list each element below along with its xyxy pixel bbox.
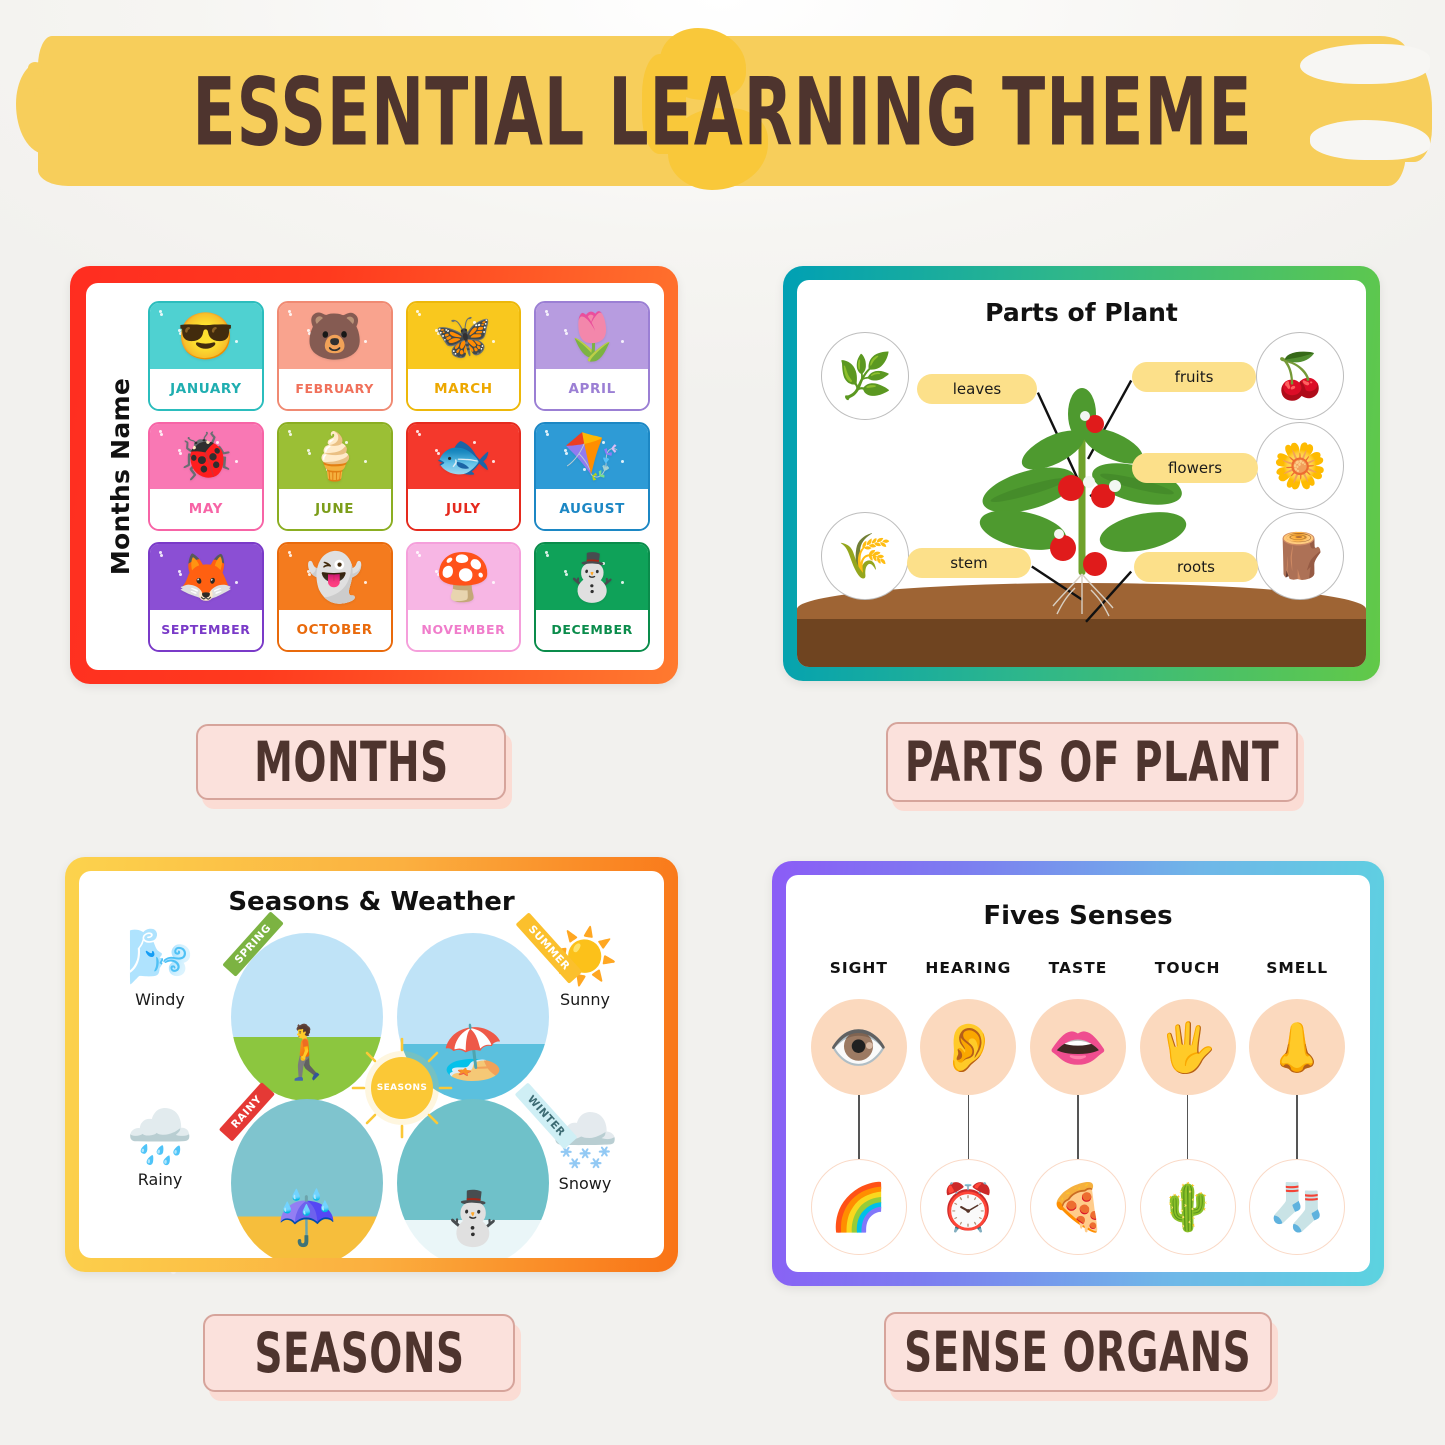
senses-card[interactable]: Fives Senses SIGHT👁️🌈HEARING👂⏰TASTE👄🍕TOU… [772, 861, 1384, 1286]
sense-connector-line [968, 1095, 970, 1159]
caption-box: SEASONS [203, 1314, 515, 1392]
daisy-icon: 🌼 [1256, 422, 1344, 510]
caption-box: PARTS OF PLANT [886, 722, 1298, 802]
pizza-icon: 🍕 [1030, 1159, 1126, 1255]
weather-windy: 🌬️ Windy [95, 929, 225, 1009]
month-card[interactable]: 👻OCTOBER [277, 542, 393, 652]
months-grid: 😎JANUARY🐻FEBRUARY🦋MARCH🌷APRIL🐞MAY🍦JUNE🐟J… [148, 301, 650, 652]
month-card[interactable]: 🍦JUNE [277, 422, 393, 532]
month-card[interactable]: ⛄DECEMBER [534, 542, 650, 652]
ghost-spiders-icon: 👻 [279, 544, 391, 610]
tulips-icon-glyph: 🌷 [563, 313, 620, 359]
weather-windy-label: Windy [95, 990, 225, 1009]
sense-column-sight[interactable]: SIGHT👁️🌈 [804, 959, 914, 1255]
fox-leaves-icon: 🦊 [150, 544, 262, 610]
sun-sunglasses-icon: 😎 [150, 303, 262, 369]
month-card[interactable]: 🐞MAY [148, 422, 264, 532]
kite-icon-glyph: 🪁 [563, 433, 620, 479]
hand-icon: 🖐️ [1140, 999, 1236, 1095]
rainy-figure-icon: ☔ [275, 1188, 340, 1249]
plant-label-flowers[interactable]: flowers [1132, 453, 1258, 483]
month-name: APRIL [536, 369, 648, 409]
page-title: ESSENTIAL LEARNING THEME [29, 58, 1416, 167]
month-card[interactable]: 🪁AUGUST [534, 422, 650, 532]
sense-column-taste[interactable]: TASTE👄🍕 [1023, 959, 1133, 1255]
mouth-icon: 👄 [1030, 999, 1126, 1095]
seasons-card-inner: Seasons & Weather 🌬️ Windy ☀️ Sunny 🌧️ R… [79, 871, 664, 1258]
rain-cloud-icon: 🌧️ [95, 1109, 225, 1166]
seasons-card-frame: Seasons & Weather 🌬️ Windy ☀️ Sunny 🌧️ R… [65, 857, 678, 1272]
senses-card-frame: Fives Senses SIGHT👁️🌈HEARING👂⏰TASTE👄🍕TOU… [772, 861, 1384, 1286]
leaf-icon: 🌿 [821, 332, 909, 420]
snowman-icon-glyph: ⛄ [563, 554, 620, 600]
ladybug-icon-glyph: 🐞 [177, 433, 234, 479]
plant-card[interactable]: Parts of Plant [783, 266, 1380, 681]
seasons-card[interactable]: Seasons & Weather 🌬️ Windy ☀️ Sunny 🌧️ R… [65, 857, 678, 1272]
mushrooms-icon: 🍄 [408, 544, 520, 610]
months-card-frame: Months Name 😎JANUARY🐻FEBRUARY🦋MARCH🌷APRI… [70, 266, 678, 684]
sense-connector-line [1296, 1095, 1298, 1159]
caption-months-text: MONTHS [254, 730, 449, 795]
month-card[interactable]: 🐟JULY [406, 422, 522, 532]
cherries-icon: 🍒 [1256, 332, 1344, 420]
ear-icon: 👂 [920, 999, 1016, 1095]
sense-connector-line [1077, 1095, 1079, 1159]
sense-column-hearing[interactable]: HEARING👂⏰ [914, 959, 1024, 1255]
month-name: OCTOBER [279, 610, 391, 650]
seasons-card-title: Seasons & Weather [79, 887, 664, 917]
bear-hearts-icon: 🐻 [279, 303, 391, 369]
roots-icon: 🪵 [1256, 512, 1344, 600]
plant-label-leaves[interactable]: leaves [917, 374, 1037, 404]
caption-seasons: SEASONS [203, 1314, 515, 1392]
spring-figure-icon: 🚶 [275, 1022, 340, 1083]
month-card[interactable]: 🦊SEPTEMBER [148, 542, 264, 652]
plant-label-fruits[interactable]: fruits [1132, 362, 1256, 392]
winter-figure-icon: ⛄ [441, 1188, 506, 1249]
weather-rainy: 🌧️ Rainy [95, 1109, 225, 1189]
sense-label: TASTE [1049, 959, 1108, 977]
alarm-clock-icon: ⏰ [920, 1159, 1016, 1255]
fish-icon: 🐟 [408, 424, 520, 490]
month-card[interactable]: 🦋MARCH [406, 301, 522, 411]
plant-card-frame: Parts of Plant [783, 266, 1380, 681]
month-name: DECEMBER [536, 610, 648, 650]
caption-months: MONTHS [196, 724, 506, 800]
kite-icon: 🪁 [536, 424, 648, 490]
plant-label-roots[interactable]: roots [1134, 552, 1258, 582]
fish-icon-glyph: 🐟 [435, 433, 492, 479]
butterfly-rainbow-icon-glyph: 🦋 [435, 313, 492, 359]
sense-label: HEARING [925, 959, 1011, 977]
month-card[interactable]: 😎JANUARY [148, 301, 264, 411]
month-card[interactable]: 🌷APRIL [534, 301, 650, 411]
mushrooms-icon-glyph: 🍄 [435, 554, 492, 600]
sock-icon: 🧦 [1249, 1159, 1345, 1255]
sense-label: SIGHT [830, 959, 888, 977]
plant-label-stem[interactable]: stem [907, 548, 1031, 578]
sense-connector-line [858, 1095, 860, 1159]
senses-card-title: Fives Senses [786, 901, 1370, 931]
caption-plant: PARTS OF PLANT [886, 722, 1298, 802]
month-name: SEPTEMBER [150, 610, 262, 650]
months-card-inner: Months Name 😎JANUARY🐻FEBRUARY🦋MARCH🌷APRI… [86, 283, 664, 670]
month-card[interactable]: 🍄NOVEMBER [406, 542, 522, 652]
cactus-icon: 🌵 [1140, 1159, 1236, 1255]
weather-rainy-label: Rainy [95, 1170, 225, 1189]
sense-label: SMELL [1266, 959, 1328, 977]
senses-card-inner: Fives Senses SIGHT👁️🌈HEARING👂⏰TASTE👄🍕TOU… [786, 875, 1370, 1272]
bear-hearts-icon-glyph: 🐻 [306, 313, 363, 359]
butterfly-rainbow-icon: 🦋 [408, 303, 520, 369]
caption-senses: SENSE ORGANS [884, 1312, 1272, 1392]
caption-box: MONTHS [196, 724, 506, 800]
eye-icon: 👁️ [811, 999, 907, 1095]
month-name: AUGUST [536, 489, 648, 529]
sense-label: TOUCH [1155, 959, 1221, 977]
month-name: NOVEMBER [408, 610, 520, 650]
months-side-label-text: Months Name [107, 378, 136, 575]
popsicles-icon: 🍦 [279, 424, 391, 490]
month-name: JANUARY [150, 369, 262, 409]
caption-plant-text: PARTS OF PLANT [905, 730, 1279, 795]
month-name: MAY [150, 489, 262, 529]
sun-sunglasses-icon-glyph: 😎 [177, 313, 234, 359]
month-name: FEBRUARY [279, 369, 391, 409]
ladybug-icon: 🐞 [150, 424, 262, 490]
months-card[interactable]: Months Name 😎JANUARY🐻FEBRUARY🦋MARCH🌷APRI… [70, 266, 678, 684]
caption-box: SENSE ORGANS [884, 1312, 1272, 1392]
sense-column-touch[interactable]: TOUCH🖐️🌵 [1133, 959, 1243, 1255]
sense-column-smell[interactable]: SMELL👃🧦 [1242, 959, 1352, 1255]
header-banner: ESSENTIAL LEARNING THEME [0, 0, 1445, 210]
sense-connector-line [1187, 1095, 1189, 1159]
tulips-icon: 🌷 [536, 303, 648, 369]
caption-senses-text: SENSE ORGANS [904, 1320, 1251, 1385]
caption-seasons-text: SEASONS [254, 1321, 464, 1386]
nose-icon: 👃 [1249, 999, 1345, 1095]
ghost-spiders-icon-glyph: 👻 [306, 554, 363, 600]
seasons-center-badge: SEASONS [371, 1057, 433, 1119]
senses-columns: SIGHT👁️🌈HEARING👂⏰TASTE👄🍕TOUCH🖐️🌵SMELL👃🧦 [804, 959, 1352, 1242]
months-side-label: Months Name [98, 283, 144, 670]
month-name: MARCH [408, 369, 520, 409]
month-name: JUNE [279, 489, 391, 529]
month-name: JULY [408, 489, 520, 529]
month-card[interactable]: 🐻FEBRUARY [277, 301, 393, 411]
popsicles-icon-glyph: 🍦 [306, 433, 363, 479]
stem-icon: 🌾 [821, 512, 909, 600]
rainbow-icon: 🌈 [811, 1159, 907, 1255]
windy-cloud-icon: 🌬️ [95, 929, 225, 986]
fox-leaves-icon-glyph: 🦊 [177, 554, 234, 600]
snowman-icon: ⛄ [536, 544, 648, 610]
plant-card-inner: Parts of Plant [797, 280, 1366, 667]
